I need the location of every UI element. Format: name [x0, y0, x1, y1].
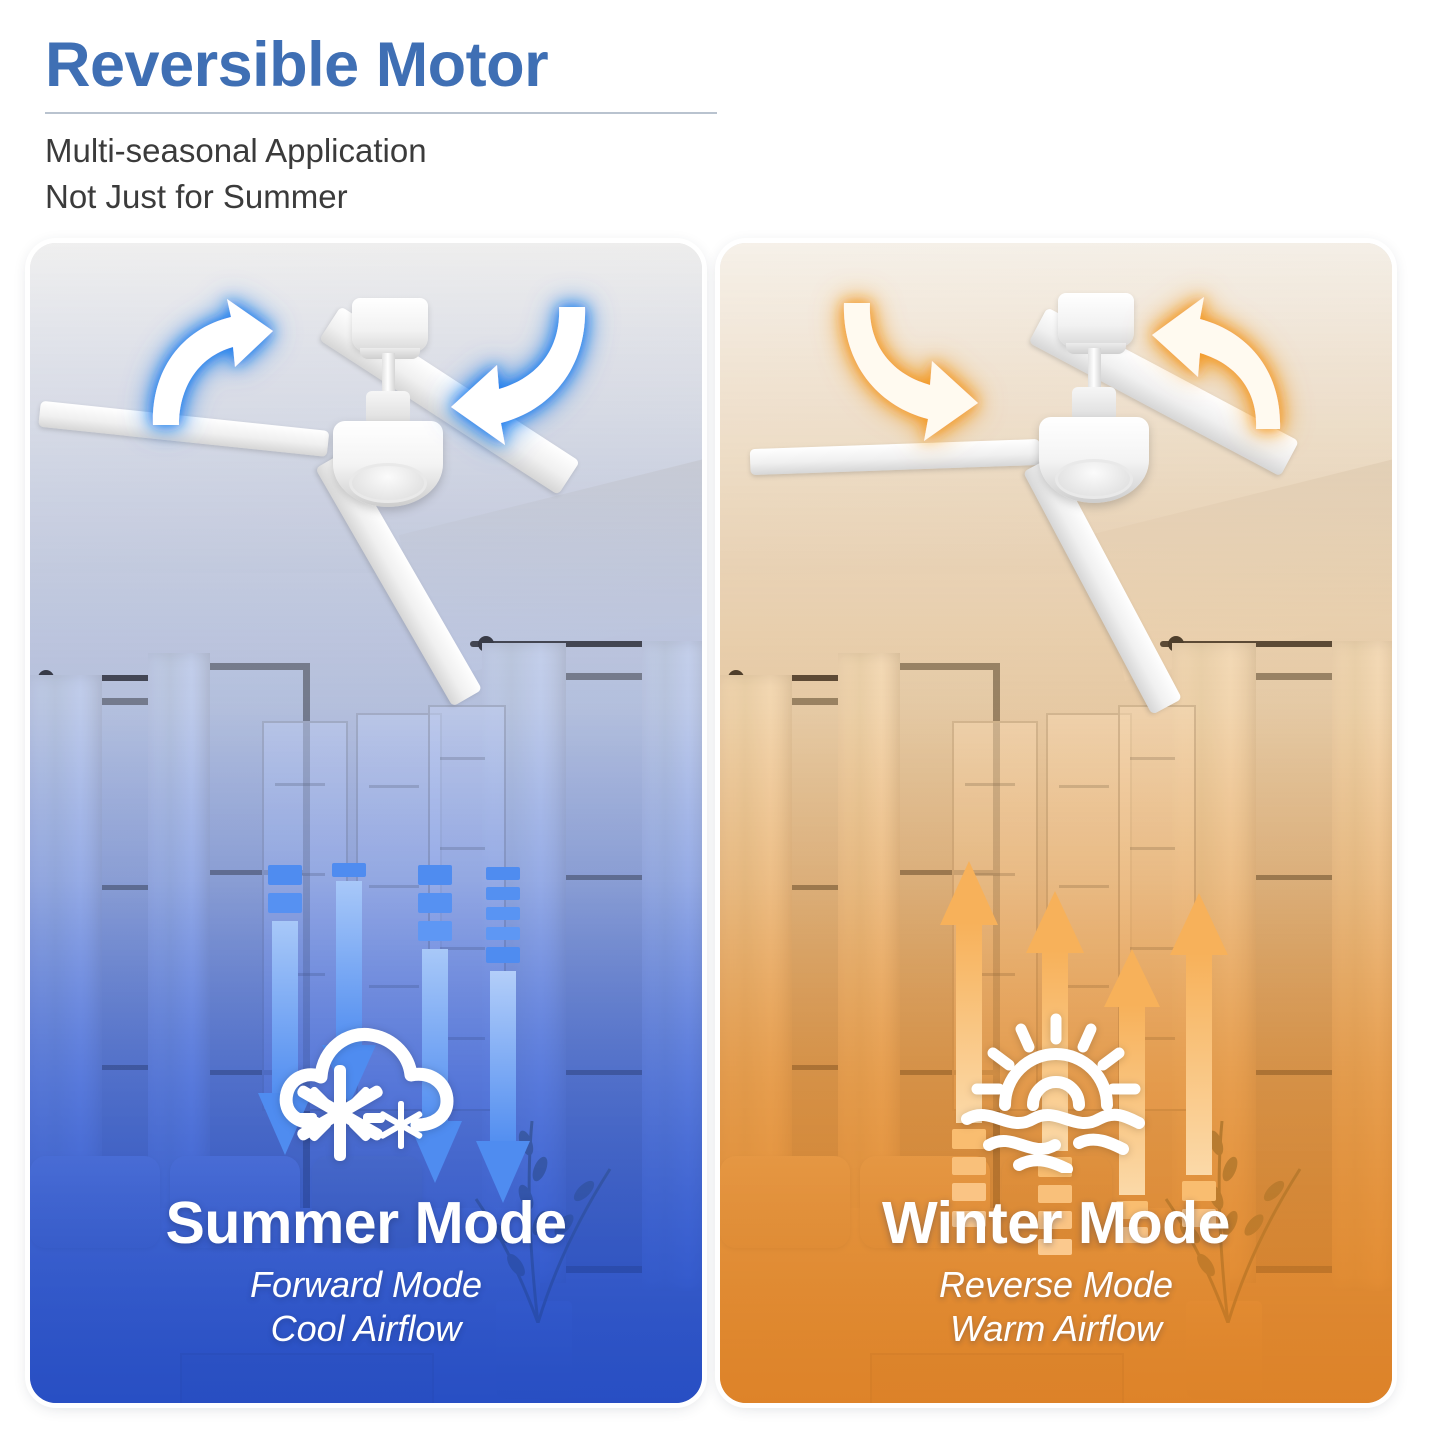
rotation-arrow-right-winter [1128, 289, 1298, 439]
fan-canopy [1058, 293, 1134, 347]
rotation-arrow-left-winter [830, 293, 1000, 443]
mode-sub-summer: Forward Mode Cool Airflow [30, 1263, 702, 1351]
page-title: Reversible Motor [45, 32, 1385, 98]
mode-panels: Summer Mode Forward Mode Cool Airflow [30, 243, 1415, 1403]
mode-sub-line-2: Cool Airflow [30, 1307, 702, 1351]
product-feature-page: Reversible Motor Multi-seasonal Applicat… [0, 0, 1445, 1445]
snow-cloud-icon [271, 1013, 461, 1173]
mode-title-winter: Winter Mode [720, 1193, 1392, 1253]
ceiling-fan-summer [30, 243, 702, 583]
sunrise-waves-icon [961, 1013, 1151, 1173]
mode-sub-line-1: Forward Mode [30, 1263, 702, 1307]
panel-winter-mode[interactable]: Winter Mode Reverse Mode Warm Airflow [720, 243, 1392, 1403]
fan-light-lens [349, 463, 427, 503]
mode-sub-line-2: Warm Airflow [720, 1307, 1392, 1351]
header: Reversible Motor Multi-seasonal Applicat… [45, 32, 1385, 219]
rotation-arrow-left-summer [135, 293, 285, 433]
rotation-arrow-right-summer [425, 301, 595, 451]
fan-canopy [352, 298, 428, 352]
mode-sub-line-1: Reverse Mode [720, 1263, 1392, 1307]
subtitle-block: Multi-seasonal Application Not Just for … [45, 128, 1385, 219]
caption-summer: Summer Mode Forward Mode Cool Airflow [30, 1193, 702, 1351]
fan-blade [750, 439, 1041, 475]
fan-light-lens [1055, 459, 1133, 499]
subtitle-line-1: Multi-seasonal Application [45, 128, 1385, 174]
fan-stack [1072, 387, 1116, 421]
title-divider [45, 112, 717, 114]
fan-stack [366, 391, 410, 425]
mode-title-summer: Summer Mode [30, 1193, 702, 1253]
subtitle-line-2: Not Just for Summer [45, 174, 1385, 220]
caption-winter: Winter Mode Reverse Mode Warm Airflow [720, 1193, 1392, 1351]
panel-summer-mode[interactable]: Summer Mode Forward Mode Cool Airflow [30, 243, 702, 1403]
mode-sub-winter: Reverse Mode Warm Airflow [720, 1263, 1392, 1351]
